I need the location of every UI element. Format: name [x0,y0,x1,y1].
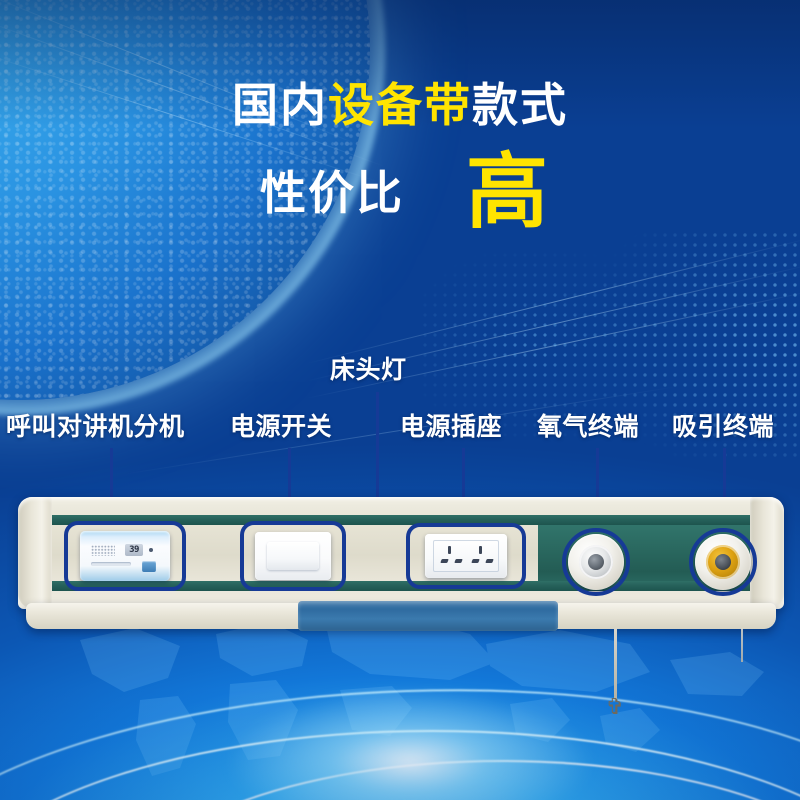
callout-label-bedside-lamp: 床头灯 [330,358,407,383]
highlight-suction-terminal [689,528,757,596]
suction-drain-tube [741,628,743,662]
bedside-lamp-diffuser [298,601,558,631]
vignette-overlay [0,0,800,800]
highlight-intercom [64,521,186,591]
pull-cord-handle[interactable]: ✞ [604,695,626,719]
callout-label-power-switch: 电源开关 [230,415,332,440]
poster-canvas: 国内设备带款式 性价比 高 呼叫对讲机分机 电源开关 床头灯 电源插座 氧气终端… [0,0,800,800]
callout-label-nurse-call-intercom: 呼叫对讲机分机 [6,415,185,440]
highlight-power-socket [406,523,526,589]
pull-cord[interactable] [614,628,617,700]
panel-end-cap-left [18,497,52,609]
callout-label-oxygen-terminal: 氧气终端 [537,415,639,440]
highlight-power-switch [240,521,346,591]
callout-label-suction-terminal: 吸引终端 [672,415,774,440]
highlight-oxygen-terminal [562,528,630,596]
callout-label-power-socket: 电源插座 [400,415,502,440]
